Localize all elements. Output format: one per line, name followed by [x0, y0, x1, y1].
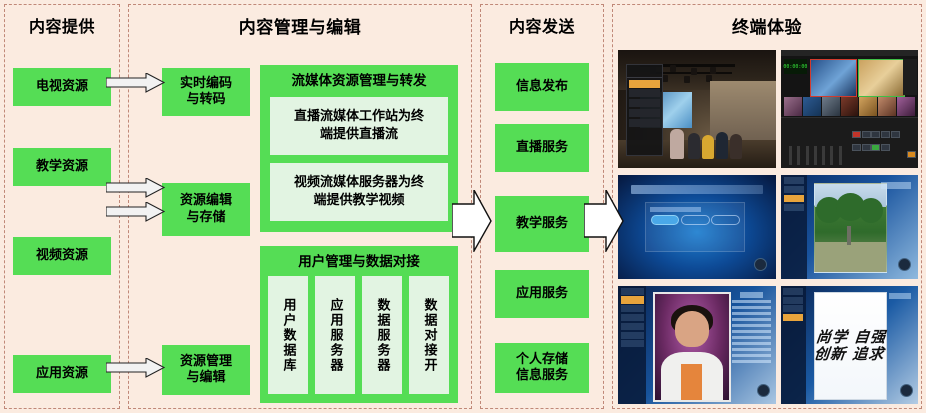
box-live-service-label: 直播服务: [495, 140, 589, 156]
box-resource-edit-store-line1: 资源编辑: [162, 193, 250, 209]
survey-option-selected[interactable]: [651, 215, 679, 224]
column-title-content-manage: 内容管理与编辑: [129, 13, 471, 38]
switcher-source-thumb[interactable]: [841, 97, 859, 116]
box-data-server[interactable]: 数据服务器: [362, 276, 402, 394]
column-terminal-experience: 终端体验: [612, 4, 922, 409]
studio-menu-overlay[interactable]: [626, 64, 663, 156]
calligraphy-text: 尚学 自强 创新 追求: [814, 329, 888, 364]
studio-person: [730, 134, 742, 159]
switcher-button[interactable]: [881, 131, 890, 138]
portrait-menu-item-selected[interactable]: [621, 296, 644, 303]
portrait-inner-top: [681, 364, 702, 400]
box-teaching-service-label: 教学服务: [495, 216, 589, 232]
survey-option[interactable]: [681, 215, 709, 224]
calligraphy-menu-item[interactable]: [783, 288, 803, 295]
box-video-stream-server[interactable]: 视频流媒体服务器为终 端提供教学视频: [270, 163, 448, 221]
campus-label: [881, 182, 911, 188]
group-stream-media: 流媒体资源管理与转发 直播流媒体工作站为终 端提供直播流 视频流媒体服务器为终 …: [260, 65, 458, 232]
portrait-photo: [653, 292, 731, 402]
box-data-interface-label: 数据对接开: [423, 298, 436, 373]
campus-plaza: [815, 242, 886, 272]
box-teaching-resource-label: 教学资源: [36, 159, 88, 175]
box-resource-edit-store-line2: 与存储: [162, 210, 250, 226]
calligraphy-sidebar[interactable]: [781, 286, 806, 404]
switcher-audio-fader[interactable]: [830, 146, 833, 165]
studio-person: [702, 135, 714, 159]
calligraphy-menu-item-selected[interactable]: [783, 314, 803, 321]
switcher-source-thumb[interactable]: [859, 97, 877, 116]
box-data-server-label: 数据服务器: [376, 298, 389, 373]
switcher-button[interactable]: [852, 144, 861, 151]
switcher-button[interactable]: [862, 131, 871, 138]
box-info-publish[interactable]: 信息发布: [495, 63, 589, 111]
studio-menu-header: [627, 65, 662, 78]
switcher-button-warning[interactable]: [907, 151, 916, 158]
box-personal-storage-service-line2: 信息服务: [495, 368, 589, 384]
studio-menu-item[interactable]: [629, 109, 660, 117]
box-app-service[interactable]: 应用服务: [495, 270, 589, 318]
box-info-publish-label: 信息发布: [495, 79, 589, 95]
box-personal-storage-service-line1: 个人存储: [495, 352, 589, 368]
switcher-button-program[interactable]: [852, 131, 861, 138]
arrow-app-to-manage: [106, 358, 166, 378]
switcher-titlebar: [781, 50, 918, 56]
arrow-send-to-terminal: [584, 190, 624, 252]
portrait-title-label: [740, 292, 764, 298]
survey-sub-question: [650, 207, 701, 212]
box-app-service-label: 应用服务: [495, 286, 589, 302]
arrow-tv-to-encode: [106, 73, 166, 93]
campus-menu-item[interactable]: [784, 204, 805, 211]
box-live-stream-workstation-line2: 端提供直播流: [270, 126, 448, 144]
switcher-audio-fader[interactable]: [822, 146, 825, 165]
box-teaching-resource[interactable]: 教学资源: [13, 148, 111, 186]
switcher-button[interactable]: [881, 144, 890, 151]
portrait-menu-item[interactable]: [621, 314, 644, 321]
switcher-source-strip[interactable]: [784, 97, 916, 116]
calligraphy-paper: 尚学 自强 创新 追求: [814, 292, 887, 400]
box-video-resource[interactable]: 视频资源: [13, 237, 111, 275]
studio-person: [688, 133, 700, 159]
column-title-content-send: 内容发送: [481, 13, 603, 37]
column-content-provide: 内容提供 电视资源 教学资源 视频资源 应用资源: [4, 4, 120, 409]
box-live-stream-workstation-line1: 直播流媒体工作站为终: [270, 108, 448, 126]
campus-sidebar[interactable]: [781, 175, 807, 279]
box-app-resource-label: 应用资源: [36, 366, 88, 382]
studio-person: [670, 129, 684, 159]
portrait-bio-text: [732, 300, 772, 361]
calligraphy-line1: 尚学 自强: [815, 329, 887, 346]
campus-home-icon[interactable]: [898, 258, 911, 271]
studio-menu-item-selected[interactable]: [629, 80, 660, 88]
switcher-right-panel: [903, 59, 917, 94]
column-title-content-provide: 内容提供: [5, 13, 119, 37]
switcher-audio-fader[interactable]: [797, 146, 800, 165]
switcher-source-thumb[interactable]: [803, 97, 821, 116]
studio-menu-item[interactable]: [629, 89, 660, 97]
box-live-service[interactable]: 直播服务: [495, 124, 589, 172]
survey-home-icon[interactable]: [754, 258, 767, 271]
group-stream-media-title: 流媒体资源管理与转发: [260, 73, 458, 90]
portrait-home-icon[interactable]: [757, 384, 770, 397]
diagram-canvas: 内容提供 电视资源 教学资源 视频资源 应用资源 内容管理与编辑 实时编码 与转…: [0, 0, 926, 413]
arrow-video-to-edit: [106, 202, 166, 222]
box-user-database-label: 用户数据库: [282, 298, 295, 373]
studio-menu-item[interactable]: [629, 119, 660, 127]
studio-person: [716, 132, 728, 159]
box-resource-manage-edit-line2: 与编辑: [162, 370, 250, 386]
survey-card: [645, 202, 745, 252]
campus-menu-item-selected[interactable]: [784, 195, 805, 202]
switcher-audio-fader[interactable]: [806, 146, 809, 165]
portrait-menu-item[interactable]: [621, 305, 644, 312]
box-video-stream-server-line1: 视频流媒体服务器为终: [270, 174, 448, 192]
box-teaching-service[interactable]: 教学服务: [495, 196, 589, 252]
switcher-audio-fader[interactable]: [789, 146, 792, 165]
arrow-manage-to-send: [452, 190, 492, 252]
box-user-database[interactable]: 用户数据库: [268, 276, 308, 394]
portrait-sidebar[interactable]: [618, 286, 646, 404]
box-video-resource-label: 视频资源: [36, 248, 88, 264]
studio-lamp-icon: [670, 65, 676, 72]
switcher-preview-monitor[interactable]: [810, 59, 857, 96]
calligraphy-home-icon[interactable]: [900, 384, 913, 397]
campus-menu-item[interactable]: [784, 186, 805, 193]
switcher-status-text: [784, 78, 807, 92]
switcher-program-monitor[interactable]: [858, 59, 905, 96]
box-resource-manage-edit[interactable]: 资源管理 与编辑: [162, 345, 250, 395]
switcher-button[interactable]: [871, 131, 880, 138]
group-user-management: 用户管理与数据对接 用户数据库 应用服务器 数据服务器 数据对接开: [260, 246, 458, 403]
switcher-source-thumb[interactable]: [897, 97, 915, 116]
calligraphy-menu-item[interactable]: [783, 297, 803, 304]
thumb-portrait-profile[interactable]: [618, 286, 776, 404]
box-realtime-encode-line1: 实时编码: [162, 76, 250, 92]
studio-lamp-icon: [662, 75, 668, 82]
group-user-management-title: 用户管理与数据对接: [260, 254, 458, 271]
thumb-video-switcher[interactable]: 00:00:00: [781, 50, 918, 168]
thumb-campus-view[interactable]: [781, 175, 918, 279]
switcher-button[interactable]: [891, 131, 900, 138]
box-app-server-label: 应用服务器: [329, 298, 342, 373]
campus-monument: [847, 226, 851, 245]
box-personal-storage-service[interactable]: 个人存储 信息服务: [495, 343, 589, 393]
calligraphy-label: [889, 293, 911, 299]
switcher-button[interactable]: [862, 144, 871, 151]
survey-question-banner: [631, 185, 764, 193]
switcher-audio-fader[interactable]: [814, 146, 817, 165]
campus-tree: [859, 198, 883, 222]
box-video-stream-server-line2: 端提供教学视频: [270, 192, 448, 210]
portrait-face: [675, 311, 709, 347]
box-tv-resource[interactable]: 电视资源: [13, 68, 111, 106]
portrait-menu-item[interactable]: [621, 332, 644, 339]
box-realtime-encode-line2: 与转码: [162, 92, 250, 108]
thumb-calligraphy-motto[interactable]: 尚学 自强 创新 追求: [781, 286, 918, 404]
box-resource-manage-edit-line1: 资源管理: [162, 354, 250, 370]
thumb-studio-classroom[interactable]: [618, 50, 776, 168]
switcher-audio-fader[interactable]: [839, 146, 842, 165]
column-title-terminal-experience: 终端体验: [613, 13, 921, 38]
box-realtime-encode[interactable]: 实时编码 与转码: [162, 68, 250, 116]
switcher-control-panel: [781, 117, 918, 168]
switcher-source-thumb[interactable]: [822, 97, 840, 116]
box-resource-edit-store[interactable]: 资源编辑 与存储: [162, 183, 250, 236]
studio-menu-item[interactable]: [629, 99, 660, 107]
switcher-source-thumb[interactable]: [784, 97, 802, 116]
portrait-menu-item[interactable]: [621, 288, 644, 295]
box-tv-resource-label: 电视资源: [36, 79, 88, 95]
campus-photo: [814, 183, 887, 272]
calligraphy-menu-item[interactable]: [783, 305, 803, 312]
thumb-survey-screen[interactable]: [618, 175, 776, 279]
switcher-source-thumb[interactable]: [878, 97, 896, 116]
arrow-teach-to-edit: [106, 178, 166, 198]
studio-lamp-icon: [691, 68, 697, 75]
studio-lamp-icon: [684, 76, 690, 83]
calligraphy-line2: 创新 追求: [814, 346, 886, 363]
survey-option[interactable]: [711, 215, 739, 224]
portrait-menu-item[interactable]: [621, 340, 644, 347]
switcher-timecode: 00:00:00: [784, 59, 807, 73]
box-live-stream-workstation[interactable]: 直播流媒体工作站为终 端提供直播流: [270, 97, 448, 155]
column-content-manage: 内容管理与编辑 实时编码 与转码 资源编辑 与存储 资源管理 与编辑 流媒体资源…: [128, 4, 472, 409]
campus-menu-item[interactable]: [784, 177, 805, 184]
box-data-interface[interactable]: 数据对接开: [409, 276, 449, 394]
box-app-resource[interactable]: 应用资源: [13, 355, 111, 393]
portrait-menu-item[interactable]: [621, 323, 644, 330]
box-app-server[interactable]: 应用服务器: [315, 276, 355, 394]
studio-lamp-icon: [710, 67, 716, 74]
switcher-button-preview[interactable]: [871, 144, 880, 151]
